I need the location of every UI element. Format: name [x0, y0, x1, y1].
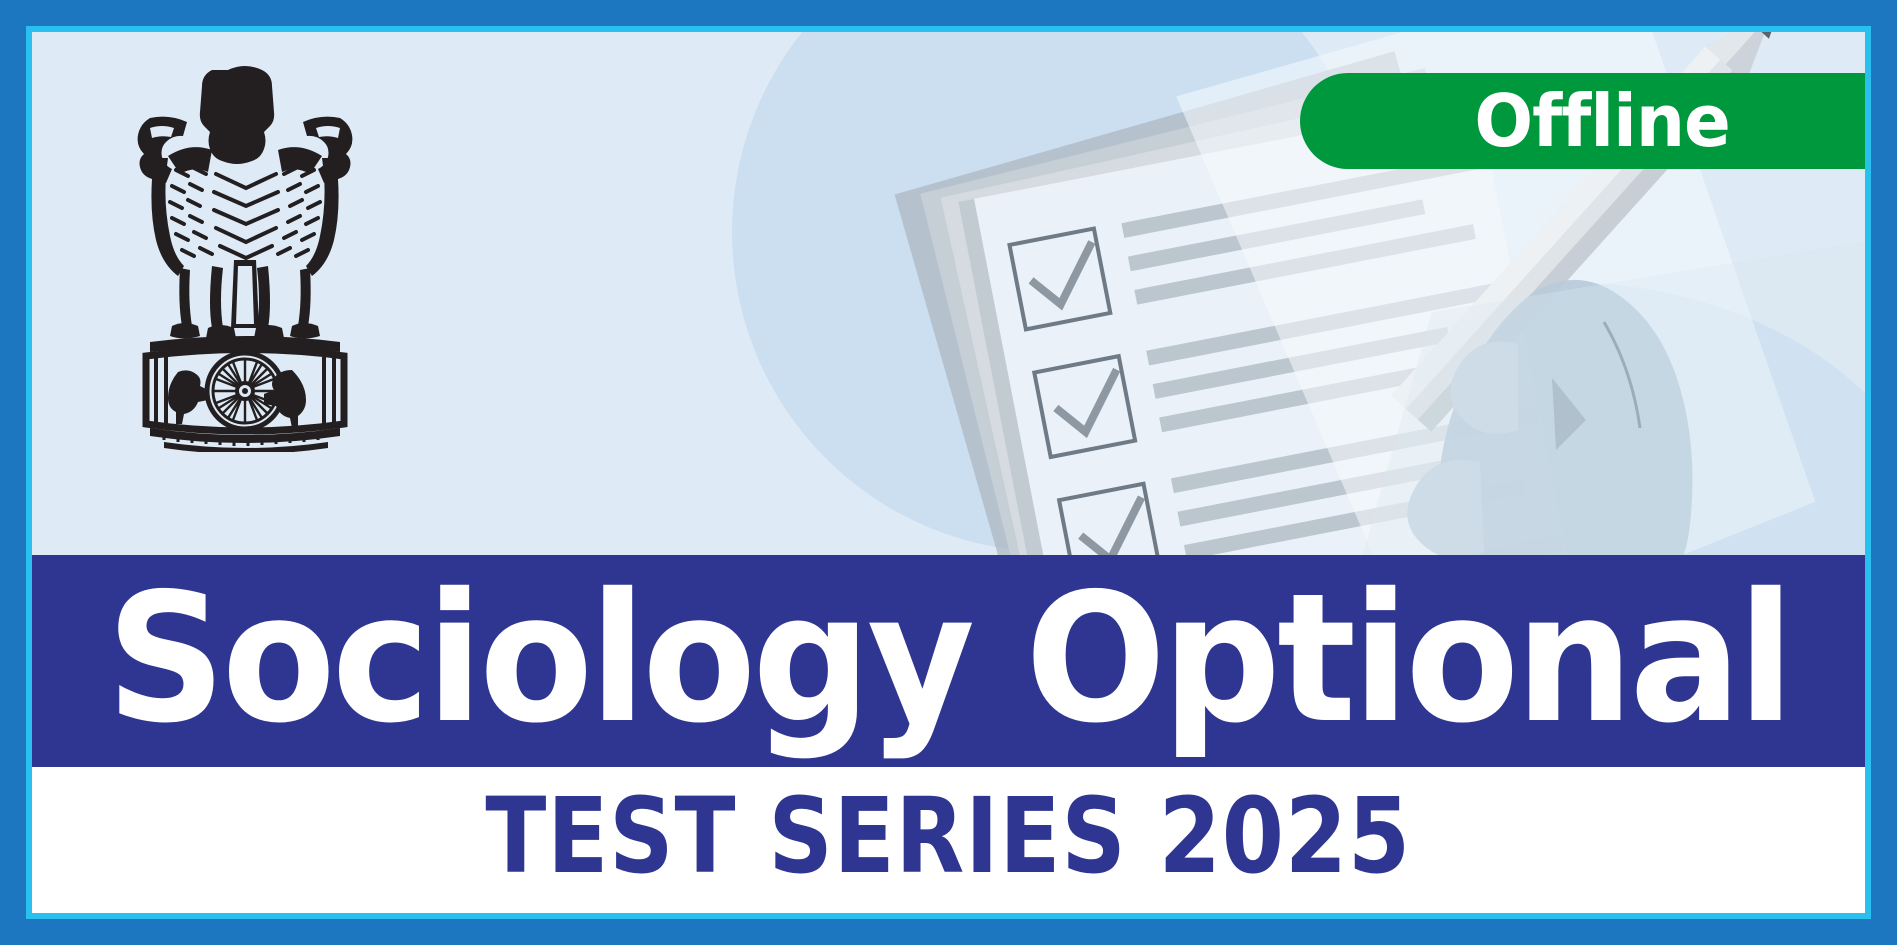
offline-badge: Offline: [1300, 73, 1865, 169]
subtitle-band: TEST SERIES 2025: [32, 767, 1865, 913]
state-emblem-icon: [120, 52, 370, 452]
title-band: Sociology Optional: [32, 555, 1865, 767]
offline-badge-label: Offline: [1474, 85, 1730, 157]
hero-section: Offline: [32, 32, 1865, 555]
poster-root: Offline Sociology Optional TEST SERIES 2…: [0, 0, 1897, 945]
poster-subtitle: TEST SERIES 2025: [486, 784, 1412, 888]
poster-title: Sociology Optional: [106, 574, 1790, 745]
poster-card: Offline Sociology Optional TEST SERIES 2…: [32, 32, 1865, 913]
